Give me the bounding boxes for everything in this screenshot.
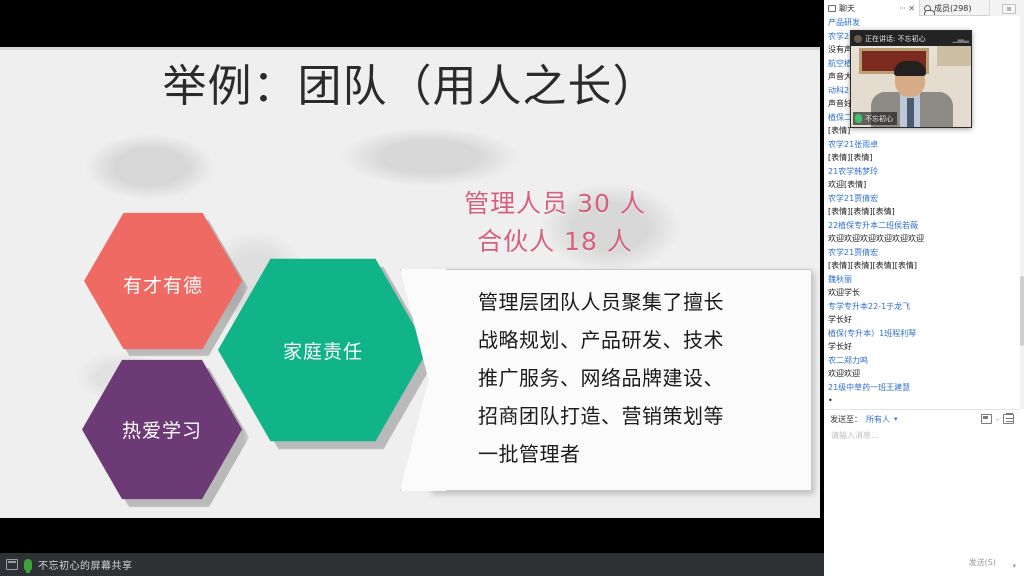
shared-screen-region[interactable]: 举例：团队（用人之长） 管理人员 30 人 合伙人 18 人 有才有德 热爱学习… — [0, 0, 824, 553]
chat-sender-name: 农学21张雨卓 — [828, 138, 1016, 152]
chat-message-text: [表情][表情] — [828, 151, 1016, 165]
chat-composer[interactable]: 发送至： 所有人 ▾ ‑ 请输入消息… — [824, 409, 1020, 519]
chat-sender-name: 农二郑力鸣 — [828, 354, 1016, 368]
chat-message-text: 欢迎学长 — [828, 286, 1016, 300]
speaking-label: 正在讲话: 不忘初心 — [865, 34, 926, 44]
microphone-icon[interactable] — [24, 559, 32, 571]
panel-tab-bar[interactable]: 聊天 ··· ✕ 成员(298) — [824, 0, 1024, 16]
chat-message-text: 欢迎欢迎欢迎欢迎欢迎欢迎 — [828, 232, 1016, 246]
hexagon-learning-label: 热爱学习 — [122, 416, 202, 443]
send-button[interactable]: 发送(S) — [963, 555, 1002, 570]
chat-sender-name: 22植保专升本二班侯若薇 — [828, 219, 1016, 233]
chat-sender-name: 21级中草药一班王建慧 — [828, 381, 1016, 395]
composer-toolbar[interactable]: 发送至： 所有人 ▾ ‑ — [824, 410, 1020, 428]
chat-sender-name: 21农学韩梦玲 — [828, 165, 1016, 179]
chat-message-text: 欢迎欢迎 — [828, 367, 1016, 381]
letterbox-bottom — [0, 518, 824, 553]
video-frame: 不忘初心 — [851, 46, 971, 127]
speaker-tie — [907, 98, 914, 127]
slide-title: 举例：团队（用人之长） — [0, 63, 820, 111]
background-wall-panel — [937, 46, 971, 66]
stat-line-partners: 合伙人 18 人 — [430, 223, 680, 261]
chat-message-text: 学长好 — [828, 340, 1016, 354]
chat-scrollbar[interactable] — [1020, 16, 1024, 409]
tab-chat-label: 聊天 — [839, 3, 855, 14]
chat-input[interactable]: 请输入消息… — [824, 428, 1020, 443]
hexagon-talent-label: 有才有德 — [123, 271, 203, 298]
minimize-icon[interactable] — [1002, 4, 1016, 14]
chat-sender-name: 产品研发 — [828, 16, 1016, 30]
slide-stats: 管理人员 30 人 合伙人 18 人 — [430, 185, 680, 261]
tab-chat[interactable]: 聊天 ··· ✕ — [824, 0, 920, 16]
callout-arrow — [400, 269, 446, 491]
callout-line-4: 招商团队打造、营销策划等 — [478, 397, 788, 435]
speaker-hair — [894, 61, 926, 76]
chat-message-text: 欢迎[表情] — [828, 178, 1016, 192]
chat-sender-name: 农学21贾倩宏 — [828, 192, 1016, 206]
chat-message-text: 学长好 — [828, 313, 1016, 327]
slide-top-edge — [0, 47, 820, 50]
panel-footer: 发送(S) ▾ — [824, 519, 1024, 576]
chevron-down-icon[interactable]: ▾ — [894, 415, 898, 423]
hexagon-family-label: 家庭责任 — [283, 337, 363, 364]
audio-wave-icon: ▁▃▂ — [953, 34, 968, 43]
tab-bar-filler — [990, 0, 1024, 16]
person-icon — [924, 5, 931, 12]
screenshot-icon[interactable] — [981, 414, 992, 424]
video-speaking-bar: 正在讲话: 不忘初心 ▁▃▂ — [851, 31, 971, 46]
tab-overflow-icon[interactable]: ··· — [899, 4, 905, 13]
dropdown-dash-icon[interactable]: ‑ — [996, 415, 999, 424]
tab-members[interactable]: 成员(298) — [920, 0, 990, 16]
callout-line-3: 推广服务、网络品牌建设、 — [478, 359, 788, 397]
callout-text: 管理层团队人员聚集了擅长 战略规划、产品研发、技术 推广服务、网络品牌建设、 招… — [478, 283, 788, 473]
callout-line-2: 战略规划、产品研发、技术 — [478, 321, 788, 359]
callout-line-1: 管理层团队人员聚集了擅长 — [478, 283, 788, 321]
chat-sender-name: 专学专升本22-1于龙飞 — [828, 300, 1016, 314]
letterbox-top — [0, 0, 824, 47]
callout-box[interactable]: 管理层团队人员聚集了擅长 战略规划、产品研发、技术 推广服务、网络品牌建设、 招… — [400, 269, 812, 491]
screen-share-icon — [6, 559, 18, 570]
callout-line-5: 一批管理者 — [478, 435, 788, 473]
chat-message-text: [表情][表情][表情][表情] — [828, 259, 1016, 273]
taskbar-label: 不忘初心的屏幕共享 — [38, 557, 133, 572]
active-speaker-video[interactable]: 正在讲话: 不忘初心 ▁▃▂ 不忘初心 — [850, 30, 972, 128]
chat-icon — [828, 5, 836, 12]
file-attachment-icon[interactable] — [1003, 414, 1014, 424]
video-participant-name: 不忘初心 — [865, 114, 893, 124]
send-to-value[interactable]: 所有人 — [866, 414, 890, 425]
taskbar[interactable]: 不忘初心的屏幕共享 — [0, 553, 824, 576]
close-icon[interactable]: ✕ — [908, 4, 915, 13]
mic-on-icon — [855, 114, 862, 123]
chat-sender-name: 魏秋丽 — [828, 273, 1016, 287]
avatar — [854, 35, 862, 43]
presentation-slide[interactable]: 举例：团队（用人之长） 管理人员 30 人 合伙人 18 人 有才有德 热爱学习… — [0, 47, 820, 518]
chat-message-text: • — [828, 394, 1016, 408]
video-name-badge: 不忘初心 — [853, 112, 897, 125]
stat-line-managers: 管理人员 30 人 — [430, 185, 680, 223]
chat-message-text: [表情][表情][表情] — [828, 205, 1016, 219]
tab-members-label: 成员(298) — [934, 3, 972, 14]
send-to-label: 发送至： — [830, 414, 862, 425]
send-options-chevron-icon[interactable]: ▾ — [1012, 562, 1016, 570]
chat-sender-name: 植保(专升本）1班程利琴 — [828, 327, 1016, 341]
chat-sender-name: 农学21贾倩宏 — [828, 246, 1016, 260]
